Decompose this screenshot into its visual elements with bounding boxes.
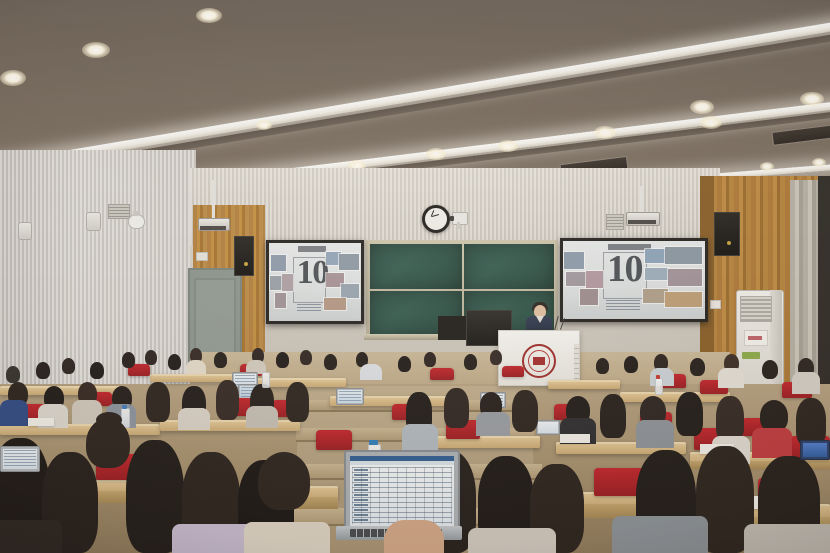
laptop-lid	[536, 420, 560, 435]
slide-photo-tile	[665, 292, 702, 306]
student-hair-bun	[96, 412, 122, 428]
ceiling-downlight	[594, 126, 616, 139]
student-head	[490, 350, 502, 365]
left-projection-screen[interactable]: 10	[266, 240, 364, 324]
ceiling-downlight	[800, 92, 824, 106]
student-head	[676, 392, 703, 436]
ceiling-downlight	[426, 148, 446, 160]
slide-photo-tile	[645, 249, 665, 263]
student-head	[146, 382, 170, 422]
slide-photo-tile	[282, 274, 293, 291]
ceiling-downlight	[498, 140, 518, 152]
student-head	[796, 398, 826, 446]
laptop-screen	[803, 443, 827, 457]
slide-photo-tile	[580, 289, 598, 305]
water-bottle[interactable]	[655, 378, 663, 395]
projector-pole	[212, 180, 215, 220]
slide-photo-tile	[564, 252, 584, 269]
projector-lens-left	[200, 226, 226, 230]
student-head	[624, 356, 638, 373]
slide-photo-tile	[275, 293, 287, 308]
student-torso	[178, 408, 210, 430]
student-torso	[244, 522, 330, 553]
blackboard-pane	[464, 244, 554, 289]
projector-lens-right	[628, 220, 656, 224]
student-head	[276, 352, 289, 368]
wall-clock	[422, 205, 450, 233]
lecture-hall-photo: 10 10	[0, 0, 830, 553]
foreground-laptop-screen	[350, 456, 454, 526]
student-torso	[402, 424, 438, 450]
student-torso	[744, 524, 830, 553]
ceiling-downlight	[760, 162, 774, 171]
white-speaker-icon	[86, 212, 101, 231]
right-wall-grille	[606, 214, 624, 230]
chair[interactable]	[430, 368, 454, 380]
student-torso	[636, 420, 674, 448]
laptop-screen-rows	[339, 391, 361, 402]
air-conditioner-label	[744, 330, 768, 346]
left-screen-surface: 10	[269, 243, 361, 321]
student-head	[324, 354, 337, 370]
projector-pole	[640, 186, 643, 214]
air-conditioner-grille	[740, 296, 772, 322]
student-torso	[792, 372, 820, 394]
laptop-screen	[338, 390, 362, 403]
right-projection-screen[interactable]: 10	[560, 238, 708, 322]
slide-photo-tile	[271, 255, 286, 271]
bottle-cap	[369, 440, 378, 445]
slide-numeral: 10	[607, 253, 642, 285]
slide-photo-tile	[643, 289, 669, 303]
wall-socket[interactable]	[196, 252, 208, 261]
ceiling-downlight	[0, 70, 26, 86]
student-torso	[0, 400, 28, 426]
wall-socket[interactable]	[710, 300, 721, 309]
student-torso	[476, 412, 510, 436]
laptop[interactable]	[336, 388, 364, 408]
student-torso	[718, 368, 744, 388]
slide-title-bar	[298, 246, 326, 251]
student-torso	[612, 516, 708, 553]
slide-photo-tile	[645, 268, 668, 280]
student-head	[444, 388, 469, 428]
black-speaker-icon	[714, 212, 740, 256]
student-head	[90, 362, 104, 379]
slide-photo-tile	[668, 269, 702, 286]
student-torso	[468, 528, 556, 553]
notebook-paper	[28, 418, 54, 426]
student-head	[300, 350, 312, 365]
ceiling-downlight	[690, 100, 714, 114]
student-head	[36, 362, 50, 379]
ceiling-downlight	[196, 8, 222, 23]
water-bottle[interactable]	[262, 372, 270, 388]
student-hand	[384, 520, 444, 553]
laptop[interactable]	[800, 440, 830, 466]
student-head	[762, 360, 778, 379]
wall-vent-grille	[108, 204, 130, 219]
student-head	[690, 358, 705, 376]
laptop-screen	[3, 449, 37, 469]
student-torso	[360, 364, 382, 380]
spreadsheet-toolbar	[350, 461, 454, 465]
ceiling-downlight	[812, 158, 826, 167]
notebook-paper	[560, 434, 590, 443]
chair[interactable]	[502, 366, 524, 377]
laptop-lid	[0, 446, 40, 472]
desk	[548, 380, 620, 389]
laptop-lid	[800, 440, 830, 460]
student-head	[145, 350, 157, 365]
slide-photo-tile	[324, 298, 346, 310]
bottle-cap	[656, 375, 660, 379]
student-head	[512, 390, 538, 432]
student-head	[596, 358, 609, 374]
student-torso	[246, 406, 278, 428]
laptop-screen-rows	[4, 450, 36, 468]
spreadsheet-row-labels	[354, 469, 368, 522]
dome-camera-mount	[133, 211, 138, 216]
student-torso	[752, 428, 792, 458]
av-monitor	[438, 316, 466, 340]
slide-caption-lines	[606, 300, 640, 310]
air-conditioner-badge	[742, 352, 760, 359]
laptop[interactable]	[536, 420, 560, 436]
laptop[interactable]	[0, 446, 40, 480]
laptop-lid	[336, 388, 364, 405]
student-head	[168, 354, 181, 370]
dome-camera-icon	[128, 214, 145, 229]
chair[interactable]	[316, 430, 352, 450]
ceiling-downlight	[256, 120, 272, 130]
right-screen-surface: 10	[563, 241, 705, 319]
black-speaker-icon	[234, 236, 254, 276]
box-camera-lens	[450, 216, 454, 221]
student-head	[62, 358, 75, 374]
ceiling-downlight	[82, 42, 110, 58]
slide-numeral: 10	[297, 259, 328, 288]
slide-photo-tile	[665, 247, 702, 264]
ceiling-vent-5	[771, 124, 830, 146]
student-head	[398, 356, 411, 372]
student-torso	[186, 360, 206, 374]
student-head	[424, 352, 436, 367]
student-head	[286, 382, 309, 422]
laptop-screen	[538, 422, 558, 433]
slide-photo-tile	[339, 254, 359, 270]
student-head	[122, 352, 135, 368]
university-crest	[522, 344, 556, 378]
student-head	[258, 452, 310, 510]
box-camera-bracket	[457, 222, 460, 229]
slide-photo-tile	[586, 271, 603, 288]
student-head	[6, 366, 20, 383]
student-torso	[0, 520, 62, 553]
student-head	[600, 394, 626, 438]
white-speaker-icon	[18, 222, 32, 240]
bottle-cap	[122, 405, 127, 409]
ceiling-downlight	[700, 116, 722, 129]
slide-photo-tile	[341, 284, 359, 298]
desk	[420, 436, 540, 448]
blackboard-pane	[370, 244, 462, 289]
student-head	[216, 380, 239, 420]
box-camera-icon	[452, 212, 468, 225]
student-head	[214, 352, 227, 368]
student-head	[464, 354, 477, 370]
slide-caption-lines	[297, 304, 321, 313]
